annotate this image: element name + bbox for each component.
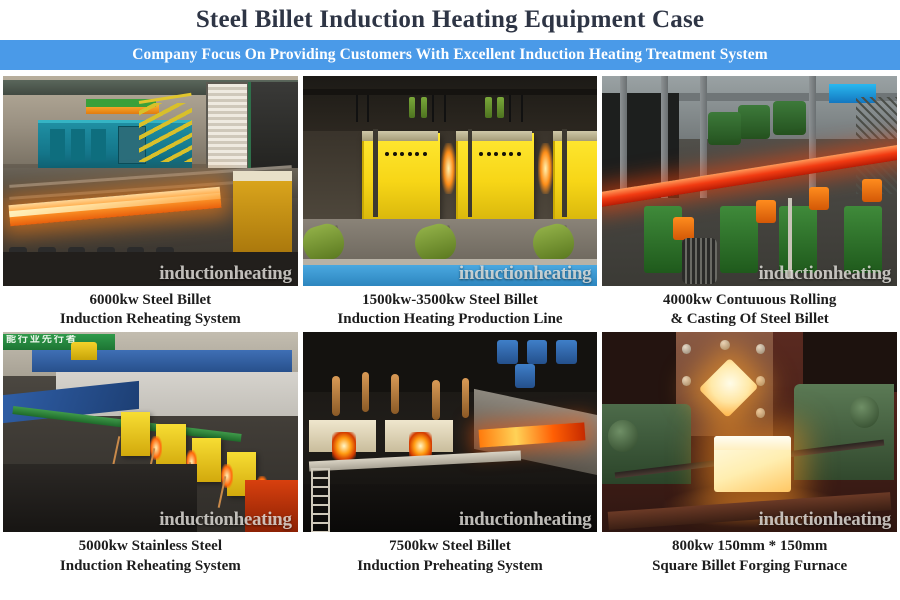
photo-rolling-mill[interactable]: inductionheating [3,76,298,286]
caption-line-1: 7500kw Steel Billet [389,538,511,554]
gallery-grid: inductionheating 6000kw Steel Billet Ind… [0,70,900,579]
caption-line-2: Induction Reheating System [5,310,296,329]
gallery-item-1[interactable]: inductionheating 6000kw Steel Billet Ind… [3,76,298,332]
caption-line-2: & Casting Of Steel Billet [604,310,895,329]
caption-1: 6000kw Steel Billet Induction Reheating … [3,286,298,332]
gallery-item-6[interactable]: inductionheating 800kw 150mm * 150mm Squ… [602,332,897,578]
caption-line-2: Induction Heating Production Line [305,310,596,329]
photo-yellow-cabinets[interactable]: inductionheating [303,76,598,286]
caption-4: 5000kw Stainless Steel Induction Reheati… [3,532,298,578]
page-title: Steel Billet Induction Heating Equipment… [0,0,900,40]
gallery-item-2[interactable]: inductionheating 1500kw-3500kw Steel Bil… [303,76,598,332]
subtitle-text: Company Focus On Providing Customers Wit… [132,46,768,64]
gallery-item-4[interactable]: 能行业先行者 inductionheating 5000kw Stai [3,332,298,578]
photo-stainless-reheating[interactable]: 能行业先行者 inductionheating [3,332,298,532]
caption-line-1: 5000kw Stainless Steel [79,538,222,554]
photo-preheating-furnace[interactable]: inductionheating [303,332,598,532]
caption-line-2: Square Billet Forging Furnace [604,557,895,576]
caption-3: 4000kw Contuuous Rolling & Casting Of St… [602,286,897,332]
subtitle-bar: Company Focus On Providing Customers Wit… [0,40,900,70]
caption-6: 800kw 150mm * 150mm Square Billet Forgin… [602,532,897,578]
photo-square-billet-forging[interactable]: inductionheating [602,332,897,532]
caption-line-2: Induction Reheating System [5,557,296,576]
photo-continuous-casting[interactable]: inductionheating [602,76,897,286]
caption-line-1: 800kw 150mm * 150mm [672,538,827,554]
gallery-item-5[interactable]: inductionheating 7500kw Steel Billet Ind… [303,332,598,578]
caption-5: 7500kw Steel Billet Induction Preheating… [303,532,598,578]
caption-line-1: 1500kw-3500kw Steel Billet [362,292,538,308]
caption-line-2: Induction Preheating System [305,557,596,576]
page-root: Steel Billet Induction Heating Equipment… [0,0,900,600]
caption-line-1: 6000kw Steel Billet [90,292,212,308]
gallery-item-3[interactable]: inductionheating 4000kw Contuuous Rollin… [602,76,897,332]
caption-2: 1500kw-3500kw Steel Billet Induction Hea… [303,286,598,332]
caption-line-1: 4000kw Contuuous Rolling [663,292,836,308]
